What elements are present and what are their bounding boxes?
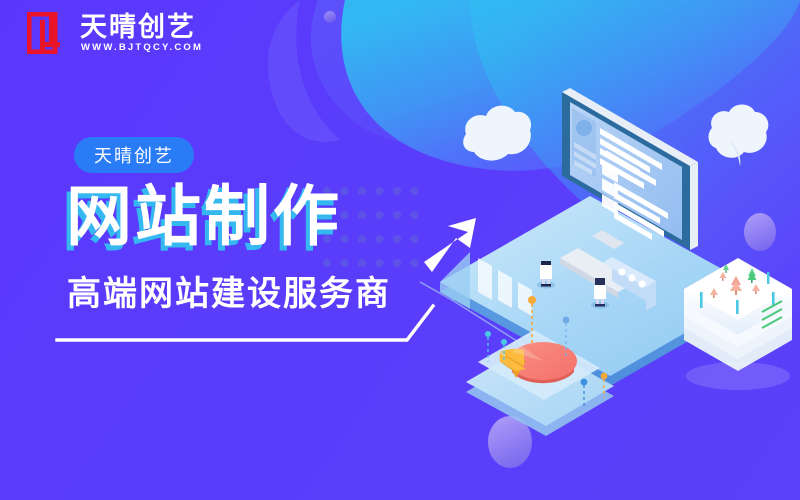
logo-website: WWW.BJTQCY.COM	[80, 43, 203, 53]
logo-text: 天晴创艺 WWW.BJTQCY.COM	[80, 14, 203, 53]
tqcy-mountain-logo-icon	[27, 12, 71, 54]
sphere-right	[744, 213, 776, 251]
cloud-right	[709, 105, 769, 167]
logo-company-name: 天晴创艺	[80, 14, 203, 41]
brand-logo[interactable]: 天晴创艺 WWW.BJTQCY.COM	[27, 12, 203, 54]
brand-badge[interactable]: 天晴创艺	[74, 137, 194, 173]
cloud-left	[463, 106, 531, 161]
underline-rule	[55, 236, 475, 366]
promo-banner: 天晴创艺 WWW.BJTQCY.COM 天晴创艺 网站制作 高端网站建设服务商	[0, 0, 800, 500]
sphere-top-left	[324, 11, 336, 23]
